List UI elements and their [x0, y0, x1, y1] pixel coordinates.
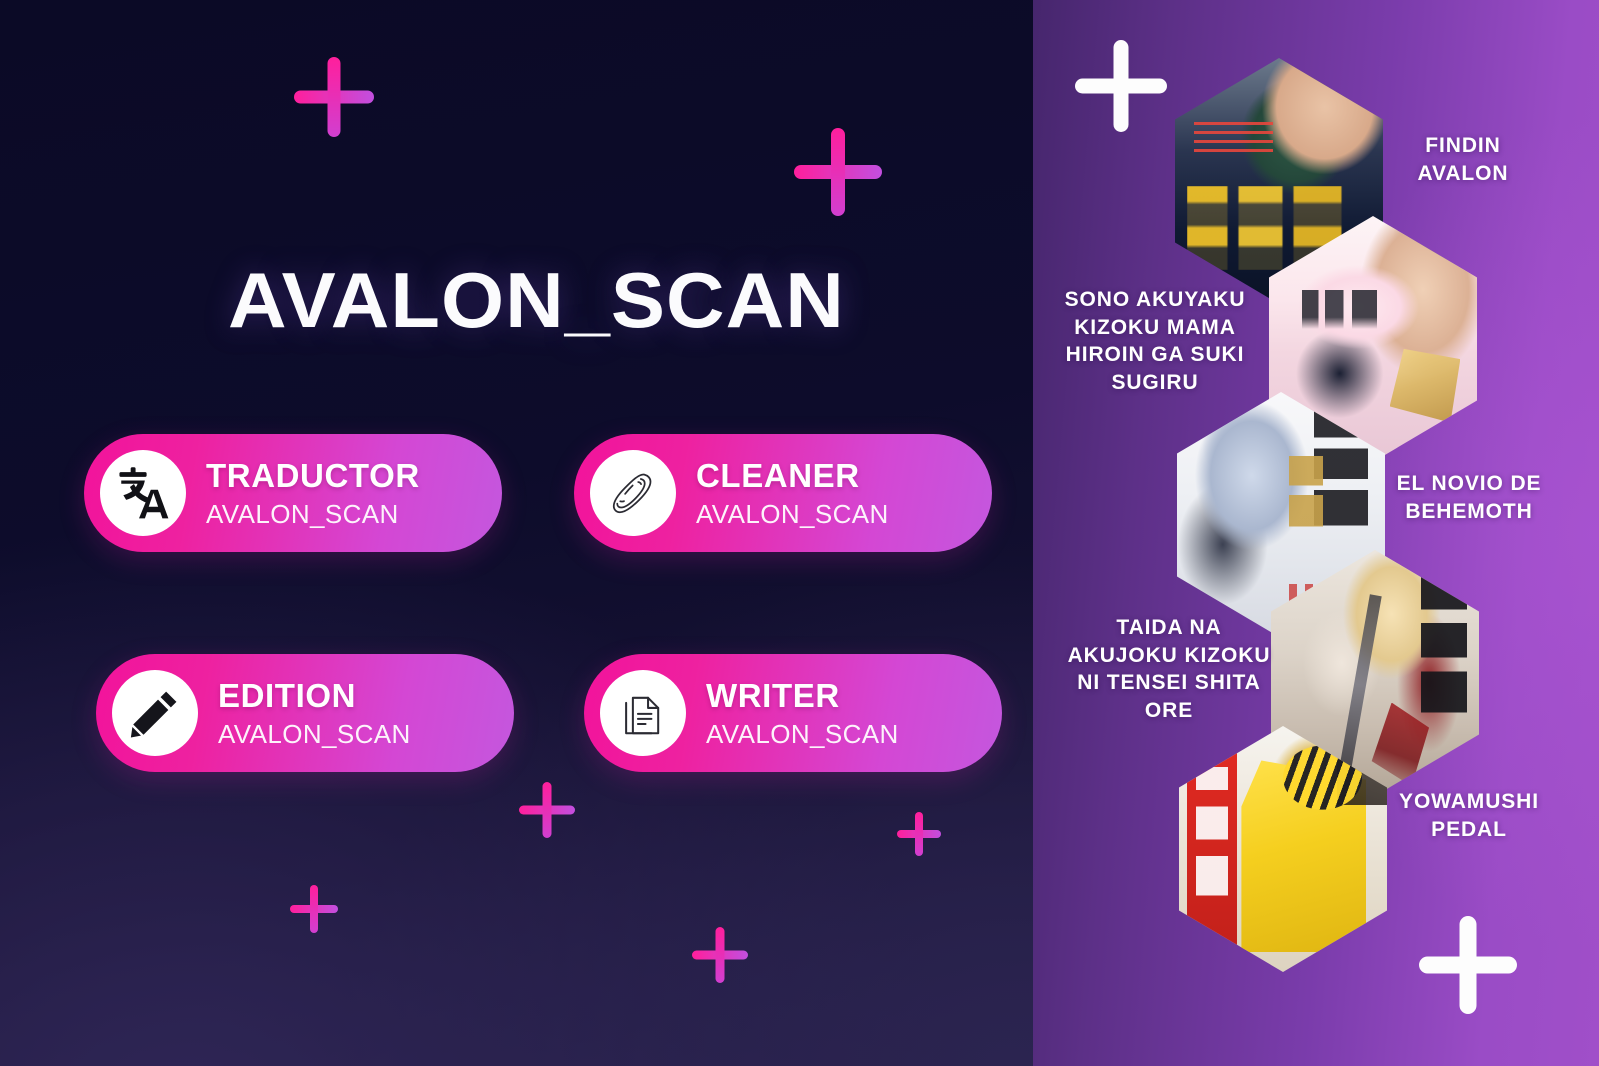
car-icon	[590, 450, 676, 536]
role-label: WRITER	[706, 679, 899, 712]
right-panel: FINDINAVALON SONO AKUYAKUKIZOKU MAMAHIRO…	[1033, 0, 1599, 1066]
role-text-block: TRADUCTOR AVALON_SCAN	[206, 459, 420, 527]
page-title: AVALON_SCAN	[228, 255, 845, 346]
cover-label: TAIDA NAAKUJOKU KIZOKUNI TENSEI SHITAORE	[1063, 614, 1275, 725]
role-text-block: EDITION AVALON_SCAN	[218, 679, 411, 747]
plus-decor-icon	[519, 782, 575, 838]
role-text-block: CLEANER AVALON_SCAN	[696, 459, 889, 527]
plus-decor-icon	[794, 128, 882, 216]
role-card-traductor[interactable]: TRADUCTOR AVALON_SCAN	[84, 434, 502, 552]
role-card-edition[interactable]: EDITION AVALON_SCAN	[96, 654, 514, 772]
role-card-writer[interactable]: WRITER AVALON_SCAN	[584, 654, 1002, 772]
cover-label: SONO AKUYAKUKIZOKU MAMAHIROIN GA SUKISUG…	[1047, 286, 1263, 397]
document-icon	[600, 670, 686, 756]
cover-artwork	[1179, 726, 1387, 972]
cover-label: FINDINAVALON	[1363, 132, 1563, 187]
plus-decor-icon	[1075, 40, 1167, 132]
plus-decor-icon	[294, 57, 374, 137]
plus-decor-icon	[897, 812, 941, 856]
role-label: CLEANER	[696, 459, 889, 492]
role-team: AVALON_SCAN	[218, 721, 411, 747]
role-label: EDITION	[218, 679, 411, 712]
plus-decor-icon	[692, 927, 748, 983]
cover-label: EL NOVIO DEBEHEMOTH	[1369, 470, 1569, 525]
poster-canvas: AVALON_SCAN TRADUCTOR AVALON_SCAN	[0, 0, 1599, 1066]
cover-tile[interactable]	[1179, 726, 1387, 972]
role-team: AVALON_SCAN	[696, 501, 889, 527]
role-text-block: WRITER AVALON_SCAN	[706, 679, 899, 747]
plus-decor-icon	[290, 885, 338, 933]
cover-label: YOWAMUSHIPEDAL	[1369, 788, 1569, 843]
plus-decor-icon	[1419, 916, 1517, 1014]
role-team: AVALON_SCAN	[206, 501, 420, 527]
left-panel: AVALON_SCAN TRADUCTOR AVALON_SCAN	[0, 0, 1033, 1066]
translate-icon	[100, 450, 186, 536]
pencil-icon	[112, 670, 198, 756]
role-card-cleaner[interactable]: CLEANER AVALON_SCAN	[574, 434, 992, 552]
role-team: AVALON_SCAN	[706, 721, 899, 747]
role-label: TRADUCTOR	[206, 459, 420, 492]
cover-image	[1179, 726, 1387, 972]
